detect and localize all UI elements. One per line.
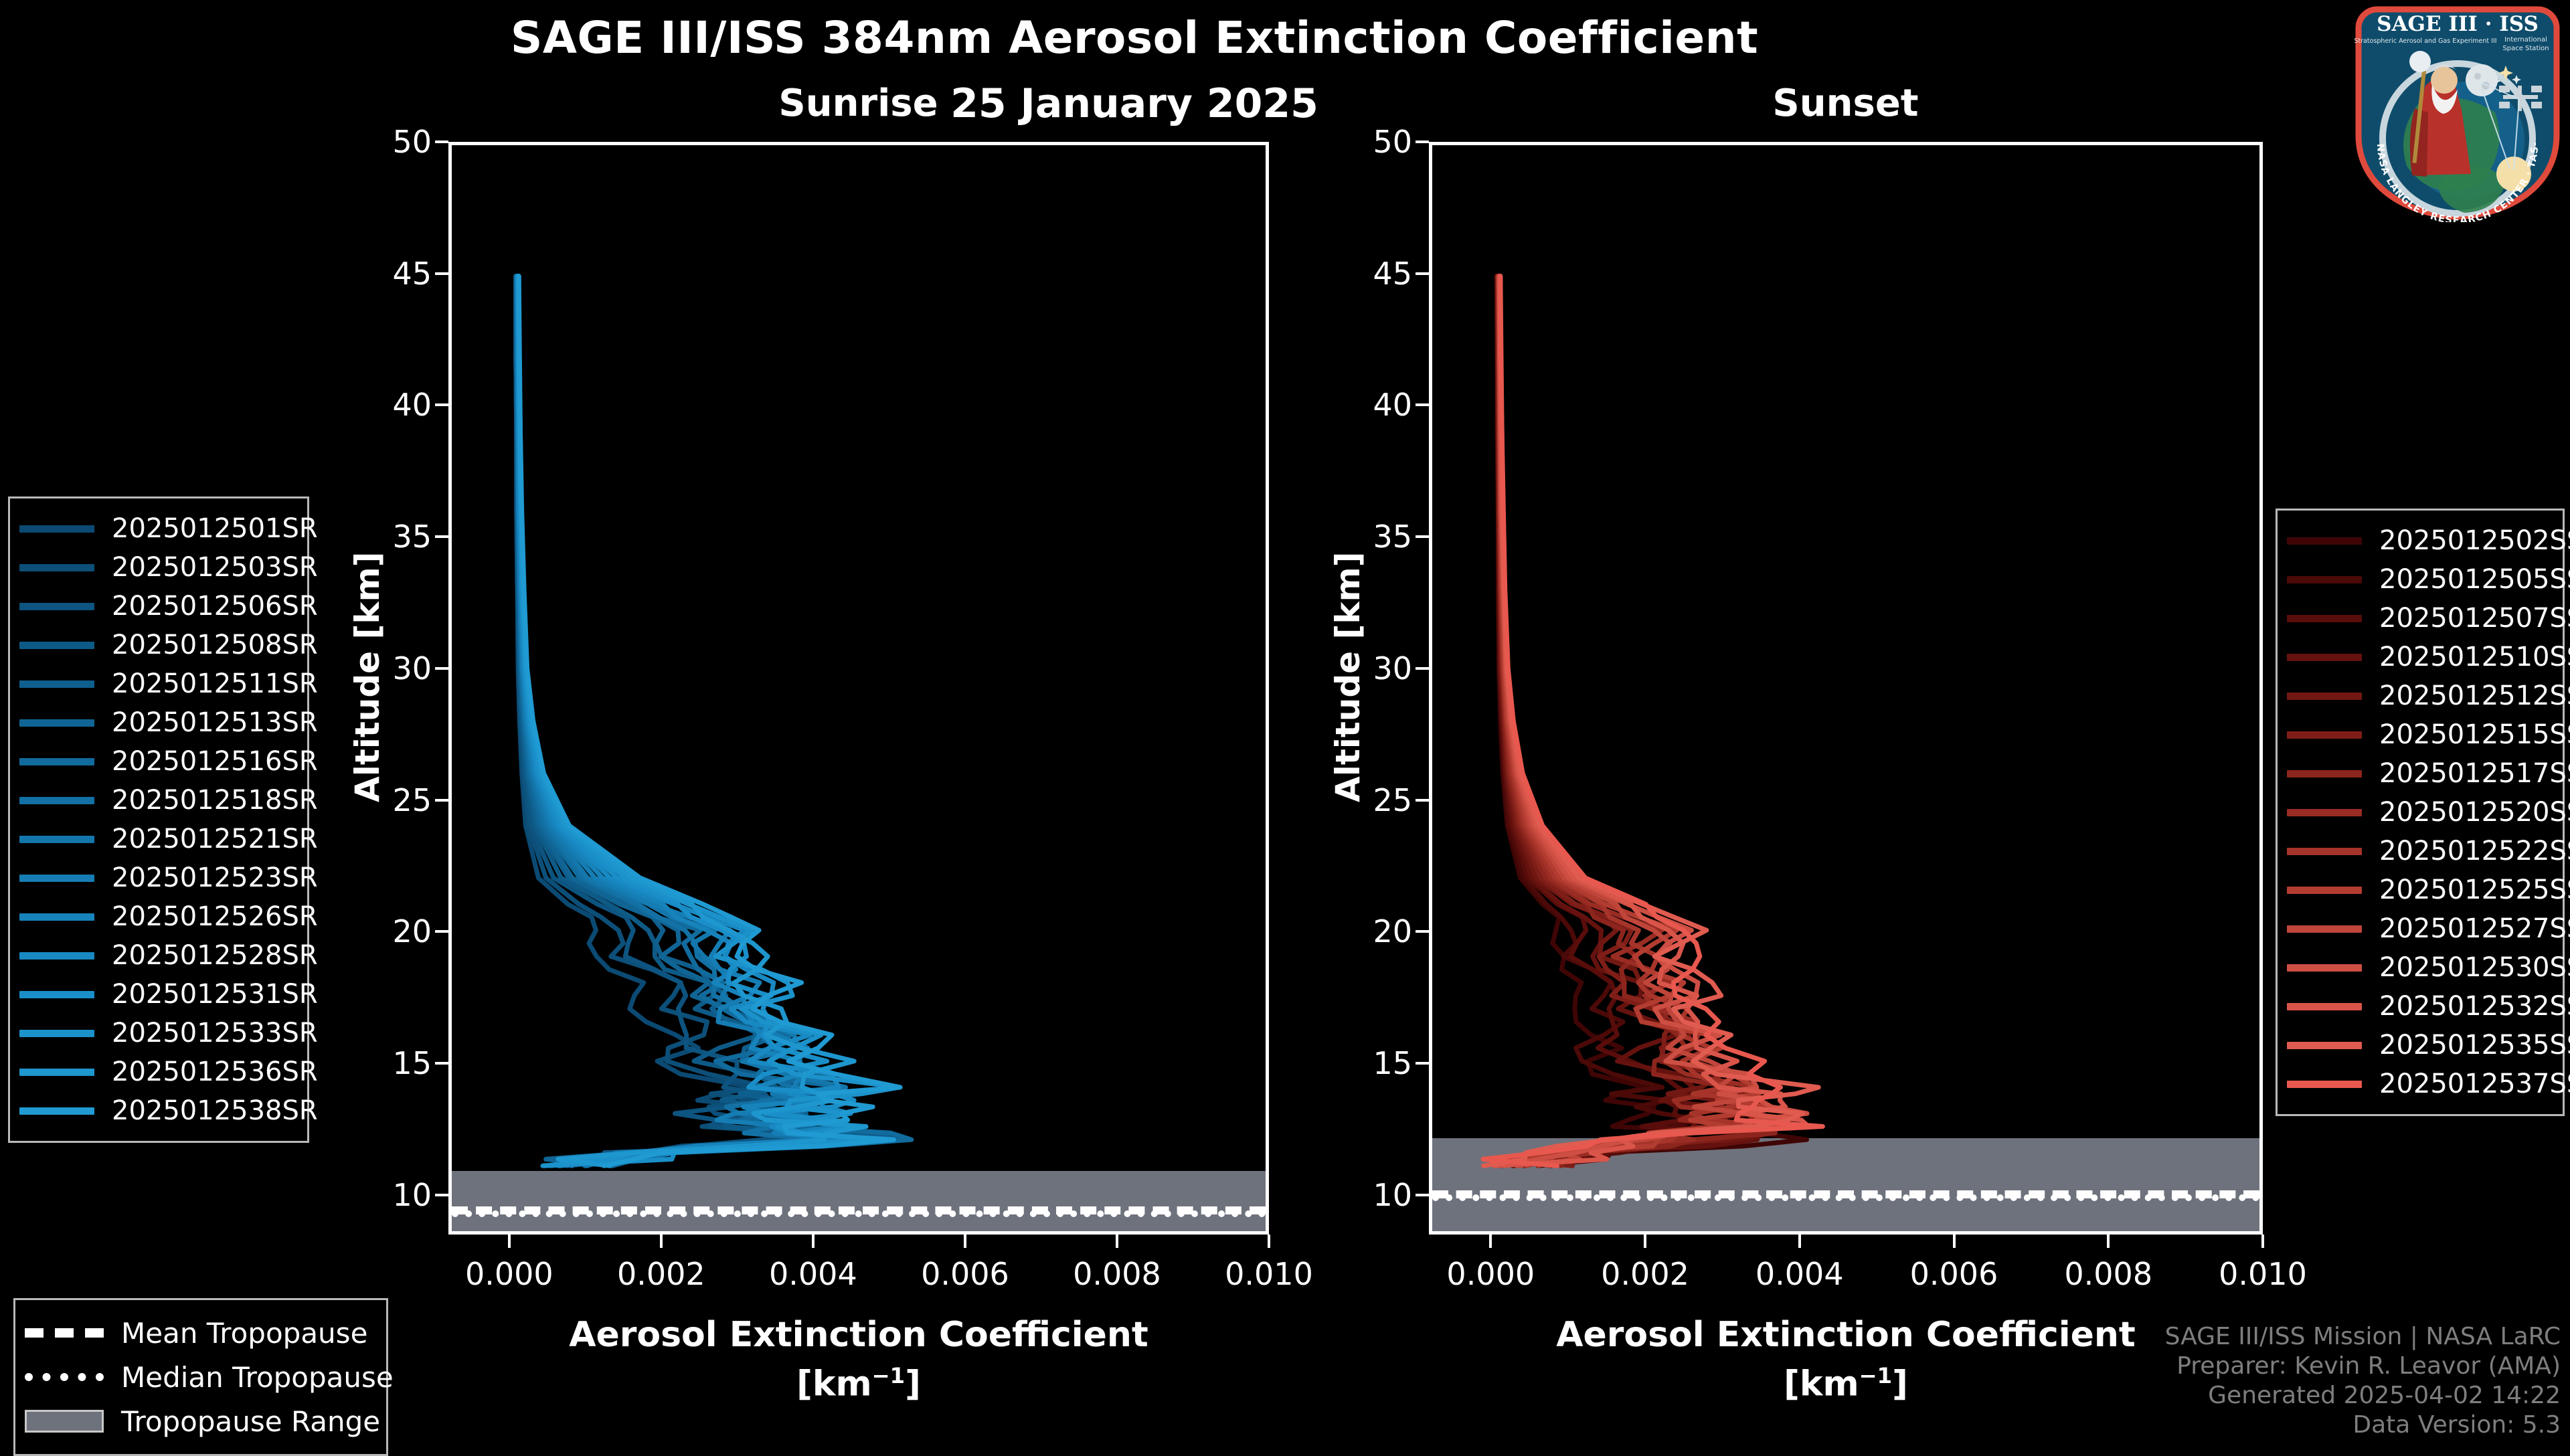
y-axis-tick-label: 40 <box>1312 387 1412 423</box>
legend-color-swatch <box>19 642 94 649</box>
y-axis-tick-mark <box>435 930 448 933</box>
x-axis-tick-label: 0.002 <box>1578 1256 1712 1292</box>
credit-line-preparer: Preparer: Kevin R. Leavor (AMA) <box>2165 1352 2561 1381</box>
legend-item-label: 2025012512SS <box>2379 680 2570 711</box>
profile-line <box>518 276 899 1166</box>
legend-color-swatch <box>2287 925 2362 933</box>
legend-color-swatch <box>2287 809 2362 816</box>
sunrise-panel-title: Sunrise <box>448 82 1268 125</box>
y-axis-tick-label: 10 <box>331 1177 432 1213</box>
legend-item-label: 2025012507SS <box>2379 603 2570 634</box>
sunset-legend-item[interactable]: 2025012535SS <box>2287 1026 2551 1065</box>
x-axis-tick-mark <box>1644 1235 1646 1248</box>
x-axis-units: [km−1] <box>1444 1363 2247 1404</box>
sunrise-profile-curves <box>452 145 1266 1231</box>
sunset-legend-item[interactable]: 2025012515SS <box>2287 715 2551 754</box>
credit-line-version: Data Version: 5.3 <box>2165 1410 2561 1440</box>
sunrise-legend-item[interactable]: 2025012523SR <box>19 858 295 897</box>
credit-line-generated: Generated 2025-04-02 14:22 <box>2165 1381 2561 1410</box>
legend-color-swatch <box>19 991 94 998</box>
legend-color-swatch <box>2287 615 2362 622</box>
y-axis-tick-mark <box>1416 403 1429 406</box>
legend-item-label: 2025012537SS <box>2379 1069 2570 1099</box>
y-axis-tick-label: 35 <box>331 519 432 555</box>
legend-color-swatch <box>2287 964 2362 972</box>
y-axis-tick-mark <box>435 1194 448 1196</box>
sunset-legend-item[interactable]: 2025012512SS <box>2287 676 2551 715</box>
x-axis-tick-label: 0.000 <box>1424 1256 1557 1292</box>
y-axis-tick-mark <box>1416 799 1429 802</box>
sunset-legend-item[interactable]: 2025012507SS <box>2287 599 2551 638</box>
tropopause-legend-label: Median Tropopause <box>121 1361 394 1394</box>
legend-color-swatch <box>19 797 94 804</box>
y-axis-tick-label: 40 <box>331 387 432 423</box>
profile-line <box>1499 276 1794 1166</box>
credit-block: SAGE III/ISS Mission | NASA LaRC Prepare… <box>2165 1322 2561 1440</box>
legend-item-label: 2025012520SS <box>2379 797 2570 828</box>
legend-item-label: 2025012536SR <box>112 1057 318 1087</box>
legend-item-label: 2025012531SR <box>112 979 318 1010</box>
legend-item-label: 2025012530SS <box>2379 952 2570 983</box>
sunrise-legend-item[interactable]: 2025012538SR <box>19 1091 295 1130</box>
tropopause-legend-item[interactable]: Median Tropopause <box>25 1355 374 1399</box>
legend-item-label: 2025012501SR <box>112 513 318 544</box>
x-axis-tick-label: 0.000 <box>442 1256 576 1292</box>
legend-item-label: 2025012521SR <box>112 824 318 854</box>
x-axis-tick-label: 0.010 <box>2196 1256 2330 1292</box>
sunrise-legend-item[interactable]: 2025012508SR <box>19 626 295 664</box>
y-axis-tick-label: 15 <box>331 1045 432 1081</box>
logo-subtitle-left: Stratospheric Aerosol and Gas Experiment… <box>2354 37 2496 45</box>
page-title: SAGE III/ISS 384nm Aerosol Extinction Co… <box>0 12 2269 64</box>
y-axis-tick-label: 35 <box>1312 519 1412 555</box>
sunrise-legend-item[interactable]: 2025012536SR <box>19 1053 295 1091</box>
profile-line <box>1499 276 1780 1166</box>
legend-item-label: 2025012525SS <box>2379 875 2570 905</box>
y-axis-tick-mark <box>435 1062 448 1065</box>
y-axis-title: Altitude [km] <box>348 551 387 802</box>
legend-item-label: 2025012535SS <box>2379 1030 2570 1061</box>
y-axis-tick-mark <box>1416 272 1429 275</box>
profile-line <box>1483 276 1822 1166</box>
y-axis-tick-mark <box>435 141 448 143</box>
legend-color-swatch <box>2287 693 2362 700</box>
x-axis-title: Aerosol Extinction Coefficient <box>457 1315 1260 1355</box>
y-axis-tick-mark <box>435 535 448 538</box>
tropopause-legend-item[interactable]: Tropopause Range <box>25 1399 374 1443</box>
sunset-legend-item[interactable]: 2025012537SS <box>2287 1065 2551 1103</box>
legend-color-swatch <box>2287 731 2362 739</box>
sunset-legend-item[interactable]: 2025012520SS <box>2287 793 2551 832</box>
y-axis-tick-label: 15 <box>1312 1045 1412 1081</box>
legend-color-swatch <box>2287 887 2362 894</box>
x-axis-tick-label: 0.008 <box>2041 1256 2175 1292</box>
legend-color-swatch <box>2287 1081 2362 1088</box>
logo-title-text: SAGE III · ISS <box>2377 12 2539 36</box>
y-axis-tick-label: 10 <box>1312 1177 1412 1213</box>
x-axis-tick-mark <box>1116 1235 1118 1248</box>
legend-color-swatch <box>2287 537 2362 545</box>
y-axis-tick-mark <box>435 272 448 275</box>
sunrise-legend-item[interactable]: 2025012533SR <box>19 1014 295 1053</box>
profile-line <box>519 276 900 1166</box>
y-axis-tick-mark <box>1416 930 1429 933</box>
sunset-legend-item[interactable]: 2025012522SS <box>2287 832 2551 871</box>
legend-item-label: 2025012506SR <box>112 591 318 622</box>
legend-item-label: 2025012503SR <box>112 552 318 583</box>
legend-color-swatch <box>19 875 94 882</box>
profile-line <box>1484 276 1819 1166</box>
legend-color-swatch <box>19 952 94 960</box>
profile-line <box>1500 276 1807 1166</box>
sunset-profile-curves <box>1432 145 2259 1231</box>
logo-subtitle-right-2: Space Station <box>2502 45 2549 52</box>
sunset-legend-item[interactable]: 2025012510SS <box>2287 638 2551 676</box>
legend-item-label: 2025012532SS <box>2379 991 2570 1022</box>
sunset-plot-panel <box>1429 142 2263 1235</box>
sunrise-legend-item[interactable]: 2025012518SR <box>19 781 295 820</box>
legend-item-label: 2025012526SR <box>112 901 318 932</box>
legend-item-label: 2025012527SS <box>2379 913 2570 944</box>
x-axis-tick-mark <box>964 1235 966 1248</box>
x-axis-tick-mark <box>2107 1235 2110 1248</box>
profile-line <box>517 276 909 1166</box>
x-axis-units: [km−1] <box>457 1363 1260 1404</box>
legend-color-swatch <box>2287 654 2362 661</box>
sunrise-legend-item[interactable]: 2025012513SR <box>19 703 295 742</box>
y-axis-tick-label: 50 <box>1312 124 1412 160</box>
credit-line-mission: SAGE III/ISS Mission | NASA LaRC <box>2165 1322 2561 1352</box>
y-axis-tick-mark <box>1416 1194 1429 1196</box>
sunset-legend-item[interactable]: 2025012517SS <box>2287 754 2551 793</box>
x-axis-tick-label: 0.002 <box>594 1256 728 1292</box>
sage-iii-iss-mission-patch-icon: SAGE III · ISS Stratospheric Aerosol and… <box>2350 1 2565 222</box>
x-axis-title: Aerosol Extinction Coefficient <box>1444 1315 2247 1355</box>
y-axis-tick-label: 45 <box>331 256 432 292</box>
tropopause-legend-label: Tropopause Range <box>121 1405 380 1438</box>
legend-color-swatch <box>19 836 94 843</box>
profile-line <box>1494 276 1808 1166</box>
tropopause-legend: Mean TropopauseMedian TropopauseTropopau… <box>13 1298 388 1456</box>
sunset-legend-item[interactable]: 2025012502SS <box>2287 521 2551 560</box>
legend-item-label: 2025012517SS <box>2379 758 2570 789</box>
legend-item-label: 2025012502SS <box>2379 525 2570 556</box>
x-axis-tick-mark <box>508 1235 511 1248</box>
y-axis-tick-label: 20 <box>331 913 432 949</box>
legend-item-label: 2025012538SR <box>112 1095 318 1126</box>
sunset-plot-frame <box>1429 142 2263 1235</box>
sunset-legend-item[interactable]: 2025012527SS <box>2287 909 2551 948</box>
legend-color-swatch <box>2287 576 2362 583</box>
profile-line <box>1498 276 1775 1166</box>
x-axis-tick-label: 0.004 <box>1733 1256 1867 1292</box>
x-axis-tick-label: 0.006 <box>898 1256 1032 1292</box>
profile-line <box>1496 276 1806 1166</box>
legend-color-swatch <box>19 603 94 610</box>
y-axis-tick-label: 20 <box>1312 913 1412 949</box>
sunrise-legend-item[interactable]: 2025012503SR <box>19 548 295 587</box>
tropopause-range-key-icon <box>25 1414 104 1429</box>
sunrise-legend-item[interactable]: 2025012531SR <box>19 975 295 1014</box>
sunset-panel-title: Sunset <box>1429 82 2262 125</box>
legend-item-label: 2025012511SR <box>112 668 318 699</box>
median-tropopause-key-icon <box>25 1370 104 1384</box>
sunrise-legend-item[interactable]: 2025012506SR <box>19 587 295 626</box>
legend-color-swatch <box>19 758 94 765</box>
x-axis-tick-mark <box>1953 1235 1956 1248</box>
sunrise-legend-item[interactable]: 2025012516SR <box>19 742 295 781</box>
logo-subtitle-right-1: International <box>2504 36 2547 43</box>
tropopause-legend-item[interactable]: Mean Tropopause <box>25 1311 374 1355</box>
y-axis-tick-mark <box>1416 667 1429 670</box>
y-axis-tick-mark <box>1416 1062 1429 1065</box>
x-axis-tick-label: 0.008 <box>1050 1256 1184 1292</box>
sunset-legend-item[interactable]: 2025012530SS <box>2287 948 2551 987</box>
legend-color-swatch <box>19 680 94 688</box>
sunset-legend: 2025012502SS2025012505SS2025012507SS2025… <box>2276 509 2565 1116</box>
y-axis-tick-mark <box>1416 535 1429 538</box>
legend-item-label: 2025012522SS <box>2379 836 2570 867</box>
legend-color-swatch <box>19 1030 94 1037</box>
x-axis-tick-mark <box>1798 1235 1801 1248</box>
y-axis-tick-mark <box>1416 141 1429 143</box>
sunrise-legend-item[interactable]: 2025012521SR <box>19 820 295 858</box>
sunset-legend-item[interactable]: 2025012505SS <box>2287 560 2551 599</box>
y-axis-tick-mark <box>435 667 448 670</box>
x-axis-tick-mark <box>1489 1235 1492 1248</box>
x-axis-tick-label: 0.006 <box>1887 1256 2021 1292</box>
legend-item-label: 2025012513SR <box>112 707 318 738</box>
legend-color-swatch <box>19 913 94 921</box>
sunrise-plot-panel <box>448 142 1269 1235</box>
legend-color-swatch <box>19 564 94 571</box>
y-axis-tick-mark <box>435 403 448 406</box>
sunrise-legend-item[interactable]: 2025012501SR <box>19 509 295 548</box>
legend-color-swatch <box>2287 1042 2362 1049</box>
x-axis-tick-mark <box>660 1235 663 1248</box>
legend-item-label: 2025012516SR <box>112 746 318 777</box>
sunrise-legend-item[interactable]: 2025012528SR <box>19 936 295 975</box>
legend-color-swatch <box>2287 770 2362 778</box>
legend-color-swatch <box>2287 848 2362 855</box>
x-axis-tick-mark <box>1268 1235 1270 1248</box>
sunrise-plot-frame <box>448 142 1269 1235</box>
y-axis-title: Altitude [km] <box>1329 551 1367 802</box>
legend-item-label: 2025012510SS <box>2379 642 2570 672</box>
legend-color-swatch <box>19 719 94 727</box>
mean-tropopause-key-icon <box>25 1326 104 1340</box>
sunrise-legend: 2025012501SR2025012503SR2025012506SR2025… <box>8 496 309 1143</box>
legend-item-label: 2025012528SR <box>112 940 318 971</box>
sunset-legend-item[interactable]: 2025012525SS <box>2287 871 2551 909</box>
x-axis-tick-mark <box>2261 1235 2264 1248</box>
tropopause-legend-label: Mean Tropopause <box>121 1317 367 1350</box>
x-axis-tick-mark <box>812 1235 815 1248</box>
y-axis-tick-label: 50 <box>331 124 432 160</box>
sunrise-legend-item[interactable]: 2025012511SR <box>19 664 295 703</box>
legend-color-swatch <box>19 525 94 533</box>
legend-item-label: 2025012505SS <box>2379 564 2570 595</box>
legend-item-label: 2025012523SR <box>112 862 318 893</box>
profile-line <box>517 276 912 1166</box>
sunset-legend-item[interactable]: 2025012532SS <box>2287 987 2551 1026</box>
sunrise-legend-item[interactable]: 2025012526SR <box>19 897 295 936</box>
profile-line <box>1499 276 1772 1166</box>
legend-item-label: 2025012515SS <box>2379 719 2570 750</box>
legend-color-swatch <box>2287 1003 2362 1010</box>
y-axis-tick-mark <box>435 799 448 802</box>
y-axis-tick-label: 45 <box>1312 256 1412 292</box>
x-axis-tick-label: 0.004 <box>746 1256 880 1292</box>
profile-line <box>1497 276 1772 1166</box>
legend-item-label: 2025012533SR <box>112 1018 318 1049</box>
legend-item-label: 2025012518SR <box>112 785 318 816</box>
legend-item-label: 2025012508SR <box>112 630 318 660</box>
legend-color-swatch <box>19 1107 94 1115</box>
legend-color-swatch <box>19 1069 94 1076</box>
x-axis-tick-label: 0.010 <box>1202 1256 1336 1292</box>
